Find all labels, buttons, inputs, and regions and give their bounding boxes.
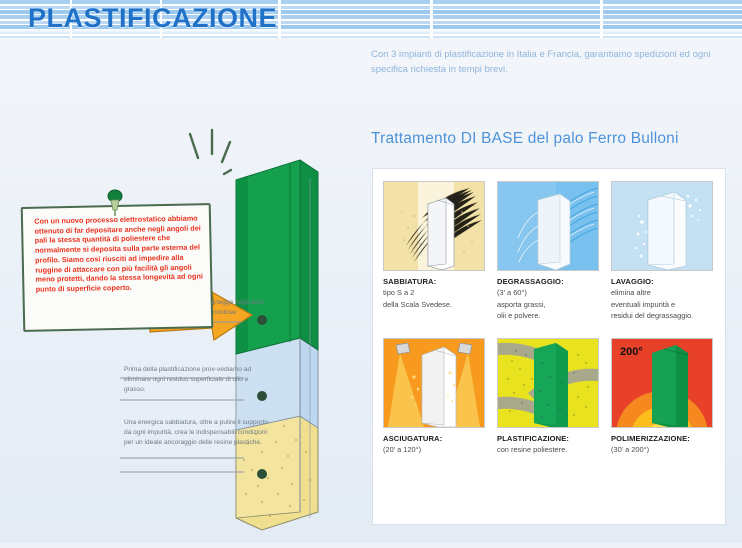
pole-illustration-area: Un forte strato di poliestere pro-tegge … xyxy=(0,60,372,543)
callout-note[interactable]: Con un nuovo processo elettrostatico abb… xyxy=(22,205,212,330)
page-title: PLASTIFICAZIONE xyxy=(28,3,277,34)
degreasing-thumbnail xyxy=(497,181,599,271)
process-line: (3' a 60°) xyxy=(497,288,527,297)
layer-note-sandblasting: Una energica sabbiatura, oltre a pulire … xyxy=(124,418,270,448)
process-grid: SABBIATURA: tipo S a 2 della Scala Svede… xyxy=(383,181,715,455)
process-line: (20' a 120°) xyxy=(383,445,421,454)
process-caption: POLIMERIZZAZIONE: (30' a 200°) xyxy=(611,433,713,456)
process-caption: ASCIUGATURA: (20' a 120°) xyxy=(383,433,485,456)
process-line: elimina altre xyxy=(611,288,651,297)
process-row-1: SABBIATURA: tipo S a 2 della Scala Svede… xyxy=(383,181,715,321)
process-title: POLIMERIZZAZIONE: xyxy=(611,433,713,444)
sandblasting-thumbnail xyxy=(383,181,485,271)
sandblasting-illustration xyxy=(384,182,484,270)
section-heading: Trattamento DI BASE del palo Ferro Bullo… xyxy=(371,130,679,148)
process-caption: LAVAGGIO: elimina altre eventuali impuri… xyxy=(611,276,713,321)
layer-note-degreasing: Prima della plastificazione prov-vediamo… xyxy=(124,365,264,395)
coating-illustration xyxy=(498,339,598,427)
process-caption: DEGRASSAGGIO: (3' a 60°) asporta grassi,… xyxy=(497,276,599,321)
process-line: olii e polvere. xyxy=(497,311,541,320)
degreasing-illustration xyxy=(498,182,598,270)
process-line: con resine poliestere. xyxy=(497,445,567,454)
pushpin-icon xyxy=(105,188,125,218)
process-title: SABBIATURA: xyxy=(383,276,485,287)
process-title: ASCIUGATURA: xyxy=(383,433,485,444)
process-line: della Scala Svedese. xyxy=(383,300,452,309)
process-row-2: ASCIUGATURA: (20' a 120°) xyxy=(383,338,715,456)
process-cell-degrassaggio[interactable]: DEGRASSAGGIO: (3' a 60°) asporta grassi,… xyxy=(497,181,599,321)
intro-paragraph: Con 3 impianti di plastificazione in Ita… xyxy=(371,48,731,77)
process-line: asporta grassi, xyxy=(497,300,545,309)
coating-thumbnail xyxy=(497,338,599,428)
process-cell-sabbiatura[interactable]: SABBIATURA: tipo S a 2 della Scala Svede… xyxy=(383,181,485,321)
washing-illustration xyxy=(612,182,712,270)
process-cell-lavaggio[interactable]: LAVAGGIO: elimina altre eventuali impuri… xyxy=(611,181,713,321)
process-title: LAVAGGIO: xyxy=(611,276,713,287)
process-cell-asciugatura[interactable]: ASCIUGATURA: (20' a 120°) xyxy=(383,338,485,456)
drying-illustration xyxy=(384,339,484,427)
process-caption: SABBIATURA: tipo S a 2 della Scala Svede… xyxy=(383,276,485,310)
process-cell-polimerizzazione[interactable]: 200° POLIMERIZZAZIONE: (30' a 200°) xyxy=(611,338,713,456)
curing-thumbnail: 200° xyxy=(611,338,713,428)
process-caption: PLASTIFICAZIONE: con resine poliestere. xyxy=(497,433,599,456)
process-line: eventuali impurità e xyxy=(611,300,675,309)
process-line: residui del degrassaggio. xyxy=(611,311,693,320)
process-line: (30' a 200°) xyxy=(611,445,649,454)
process-title: PLASTIFICAZIONE: xyxy=(497,433,599,444)
page-root: PLASTIFICAZIONE Con 3 impianti di plasti… xyxy=(0,0,742,543)
sparkle-lines-icon xyxy=(188,128,232,188)
callout-text: Con un nuovo processo elettrostatico abb… xyxy=(34,213,211,294)
washing-thumbnail xyxy=(611,181,713,271)
drying-thumbnail xyxy=(383,338,485,428)
process-title: DEGRASSAGGIO: xyxy=(497,276,599,287)
process-panel: SABBIATURA: tipo S a 2 della Scala Svede… xyxy=(372,168,726,525)
layer-marker-dot xyxy=(257,469,267,479)
process-line: tipo S a 2 xyxy=(383,288,414,297)
temperature-badge: 200° xyxy=(620,346,643,358)
process-cell-plastificazione[interactable]: PLASTIFICAZIONE: con resine poliestere. xyxy=(497,338,599,456)
